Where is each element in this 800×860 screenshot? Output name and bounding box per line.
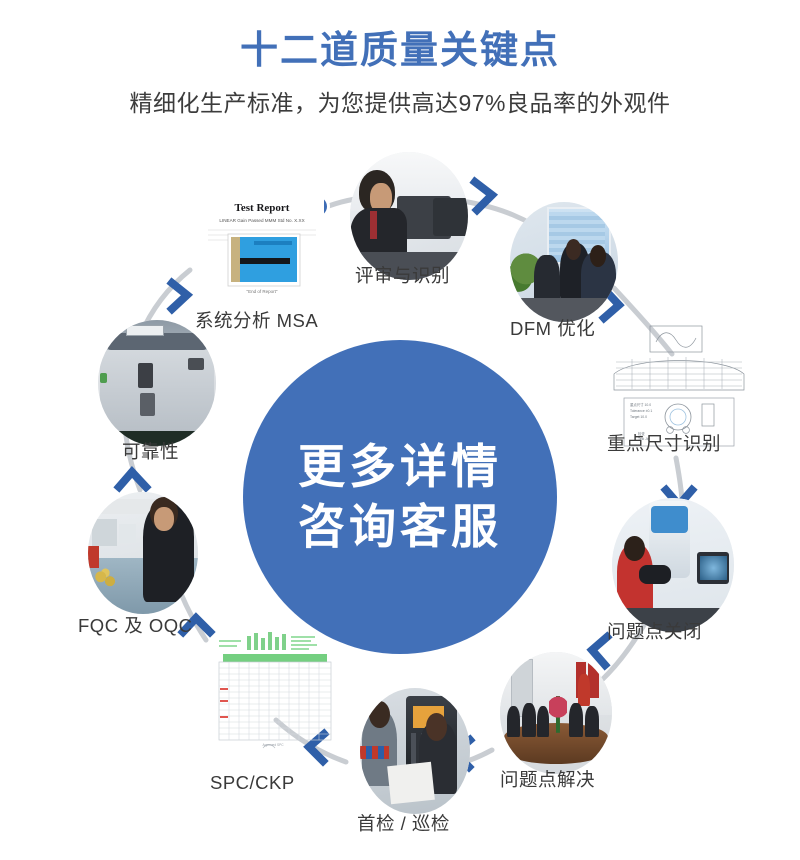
cnc-inspection-photo — [360, 688, 470, 814]
center-cta-circle[interactable]: 更多详情 咨询客服 — [243, 340, 557, 654]
center-line-1: 更多详情 — [298, 437, 502, 497]
svg-text:Test Report: Test Report — [235, 202, 290, 214]
svg-text:Target 10.0: Target 10.0 — [630, 415, 647, 419]
page-title: 十二道质量关键点 — [0, 32, 800, 70]
chevron-fqc-to-reliab — [119, 472, 146, 487]
svg-text:Approved SPC: Approved SPC — [262, 743, 284, 747]
header: 十二道质量关键点 精细化生产标准，为您提供高达97%良品率的外观件 — [0, 0, 800, 115]
node-label-reliab: 可靠性 — [122, 438, 179, 464]
page-subtitle: 精细化生产标准，为您提供高达97%良品率的外观件 — [0, 92, 800, 115]
test-report-document-icon: Test Report LINEAR Gain Passed MMM Std N… — [194, 188, 330, 300]
svg-text:"End of Report": "End of Report" — [247, 289, 278, 294]
svg-text:LINEAR Gain Passed MMM Std: LINEAR Gain Passed MMM Std No. X.XX — [219, 218, 304, 223]
reliability-chamber-photo — [98, 320, 216, 446]
spc-spreadsheet-icon: Approved SPC — [205, 630, 341, 768]
engineer-at-monitors-photo — [350, 152, 468, 280]
node-label-review: 评审与识别 — [355, 262, 450, 288]
svg-text:重点尺寸 10.0: 重点尺寸 10.0 — [630, 402, 651, 407]
infographic-root: 十二道质量关键点 精细化生产标准，为您提供高达97%良品率的外观件 — [0, 0, 800, 860]
node-label-keydim: 重点尺寸识别 — [607, 430, 721, 456]
team-at-computers-photo — [510, 202, 618, 322]
node-label-dfm: DFM 优化 — [510, 315, 595, 341]
node-label-spc: SPC/CKP — [210, 772, 295, 794]
node-label-fqc: FQC 及 OQC — [78, 612, 192, 638]
node-label-closure: 问题点关闭 — [607, 618, 702, 644]
measuring-machine-photo — [612, 498, 734, 632]
svg-text:Tolerance ±0.1: Tolerance ±0.1 — [630, 409, 652, 413]
node-label-solving: 问题点解决 — [500, 766, 595, 792]
center-line-2: 咨询客服 — [298, 497, 502, 557]
final-inspection-photo — [88, 492, 198, 614]
chevron-reliab-to-msa — [172, 283, 187, 309]
node-label-firstinsp: 首检 / 巡检 — [357, 810, 450, 836]
meeting-room-photo — [500, 652, 612, 774]
